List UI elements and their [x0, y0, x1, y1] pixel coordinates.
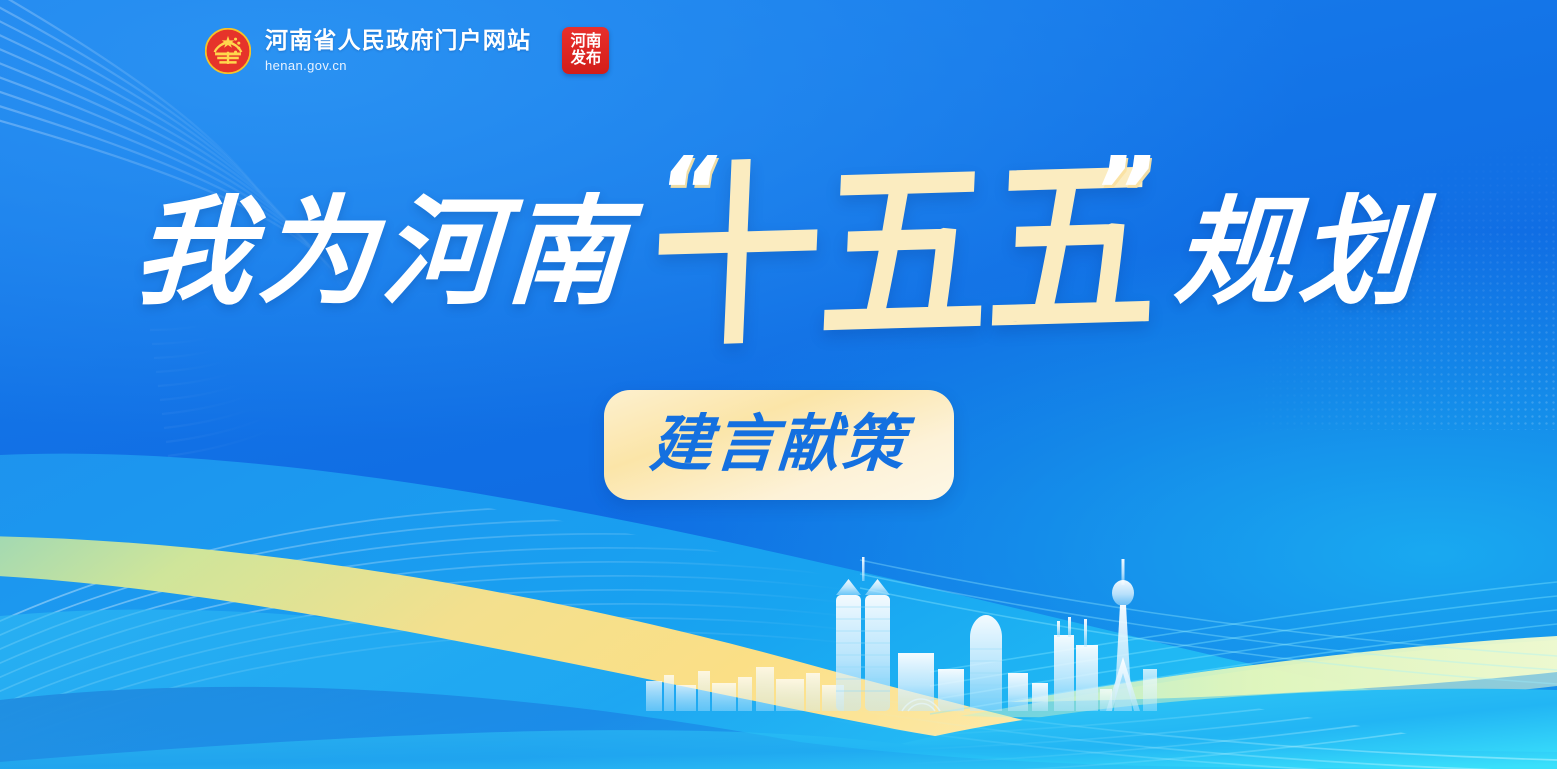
zhengzhou-skyline-icon [640, 549, 1160, 714]
sub-badge[interactable]: 建言献策 [604, 390, 954, 500]
quote-close-mark: ” [1085, 144, 1162, 240]
release-badge-line2: 发布 [570, 51, 601, 68]
site-url: henan.gov.cn [265, 59, 531, 72]
calligraphy-block: “ 十五五 ” [652, 118, 1157, 388]
henan-release-badge-icon[interactable]: 河南 发布 [562, 27, 609, 74]
sub-badge-wrapper: 建言献策 [0, 390, 1557, 500]
national-emblem-icon [205, 28, 251, 74]
headline: 我为河南 “ 十五五 ” 规划 [0, 118, 1557, 388]
site-title: 河南省人民政府门户网站 [265, 29, 531, 52]
banner-stage: 河南省人民政府门户网站 henan.gov.cn 河南 发布 我为河南 “ 十五… [0, 0, 1557, 769]
calligraphy-text: 十五五 [648, 149, 1161, 357]
release-badge-line1: 河南 [570, 34, 601, 51]
site-header[interactable]: 河南省人民政府门户网站 henan.gov.cn 河南 发布 [205, 27, 609, 74]
sub-badge-label: 建言献策 [648, 414, 908, 476]
headline-right-text: 规划 [1172, 194, 1426, 312]
site-brand: 河南省人民政府门户网站 henan.gov.cn [265, 29, 531, 72]
headline-left-text: 我为河南 [131, 194, 633, 312]
